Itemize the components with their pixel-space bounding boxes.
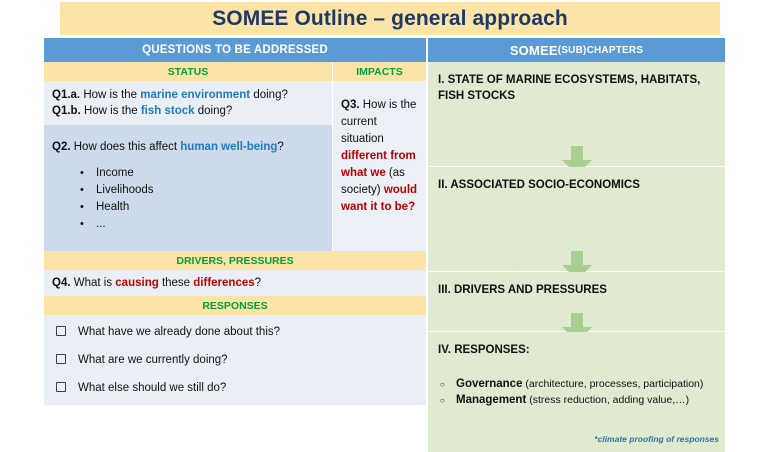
page-title: SOMEE Outline – general approach [212, 7, 568, 31]
slide-title-band: SOMEE Outline – general approach [60, 2, 720, 35]
list-item: Health [52, 199, 324, 216]
status-stack: Q1.a. How is the marine environment doin… [44, 81, 333, 251]
band-responses: RESPONSES [44, 296, 426, 315]
checkbox-icon[interactable] [56, 354, 66, 364]
outline-table: QUESTIONS TO BE ADDRESSED STATUS IMPACTS… [44, 38, 725, 430]
question-q1b: Q1.b. How is the fish stock doing? [52, 103, 324, 119]
question-q1a: Q1.a. How is the marine environment doin… [52, 87, 324, 103]
question-q3: Q3. How is the current situation differe… [341, 97, 420, 216]
chapter-title: I. STATE OF MARINE ECOSYSTEMS, HABITATS,… [438, 72, 717, 104]
subheader-row: STATUS IMPACTS [44, 62, 426, 81]
list-item: Livelihoods [52, 182, 324, 199]
list-item: Management (stress reduction, adding val… [436, 392, 721, 408]
chapter-title: IV. RESPONSES: [438, 342, 717, 358]
chapter-title: III. DRIVERS AND PRESSURES [438, 282, 717, 298]
subheader-status: STATUS [44, 62, 333, 81]
list-item: Income [52, 165, 324, 182]
list-item: What else should we still do? [52, 381, 418, 396]
subheader-impacts: IMPACTS [333, 62, 426, 81]
question-q4: Q4. What is causing these differences? [52, 275, 418, 291]
chapters-column-header: SOMEE (SUB)CHAPTERS [428, 38, 725, 62]
impacts-cell: Q3. How is the current situation differe… [333, 81, 426, 251]
responses-list: What have we already done about this? Wh… [52, 325, 418, 396]
chapter-row-3: III. DRIVERS AND PRESSURES [428, 272, 725, 332]
chapter-title: II. ASSOCIATED SOCIO-ECONOMICS [438, 177, 717, 193]
slide-canvas: SOMEE Outline – general approach QUESTIO… [0, 0, 768, 432]
q2-bullet-list: Income Livelihoods Health ... [52, 165, 324, 233]
questions-column: QUESTIONS TO BE ADDRESSED STATUS IMPACTS… [44, 38, 426, 430]
list-item: Governance (architecture, processes, par… [436, 376, 721, 392]
chapter-row-1: I. STATE OF MARINE ECOSYSTEMS, HABITATS,… [428, 62, 725, 167]
chapters-column: SOMEE (SUB)CHAPTERS I. STATE OF MARINE E… [428, 38, 725, 430]
checkbox-icon[interactable] [56, 382, 66, 392]
question-q2: Q2. How does this affect human well-bein… [52, 139, 324, 155]
question-block-q1: Q1.a. How is the marine environment doin… [44, 81, 332, 125]
list-item: What are we currently doing? [52, 353, 418, 368]
question-block-q4: Q4. What is causing these differences? [44, 270, 426, 296]
chapter-row-4: IV. RESPONSES: Governance (architecture,… [428, 332, 725, 452]
questions-column-header: QUESTIONS TO BE ADDRESSED [44, 38, 426, 62]
footnote: *climate proofing of responses [594, 434, 719, 444]
checkbox-icon[interactable] [56, 326, 66, 336]
list-item: ... [52, 216, 324, 233]
list-item: What have we already done about this? [52, 325, 418, 340]
question-block-q2: Q2. How does this affect human well-bein… [44, 125, 332, 251]
band-drivers-pressures: DRIVERS, PRESSURES [44, 251, 426, 270]
responses-sub-list: Governance (architecture, processes, par… [436, 376, 721, 408]
status-impacts-row: Q1.a. How is the marine environment doin… [44, 81, 426, 251]
responses-checklist: What have we already done about this? Wh… [44, 315, 426, 405]
chapter-row-2: II. ASSOCIATED SOCIO-ECONOMICS [428, 167, 725, 272]
